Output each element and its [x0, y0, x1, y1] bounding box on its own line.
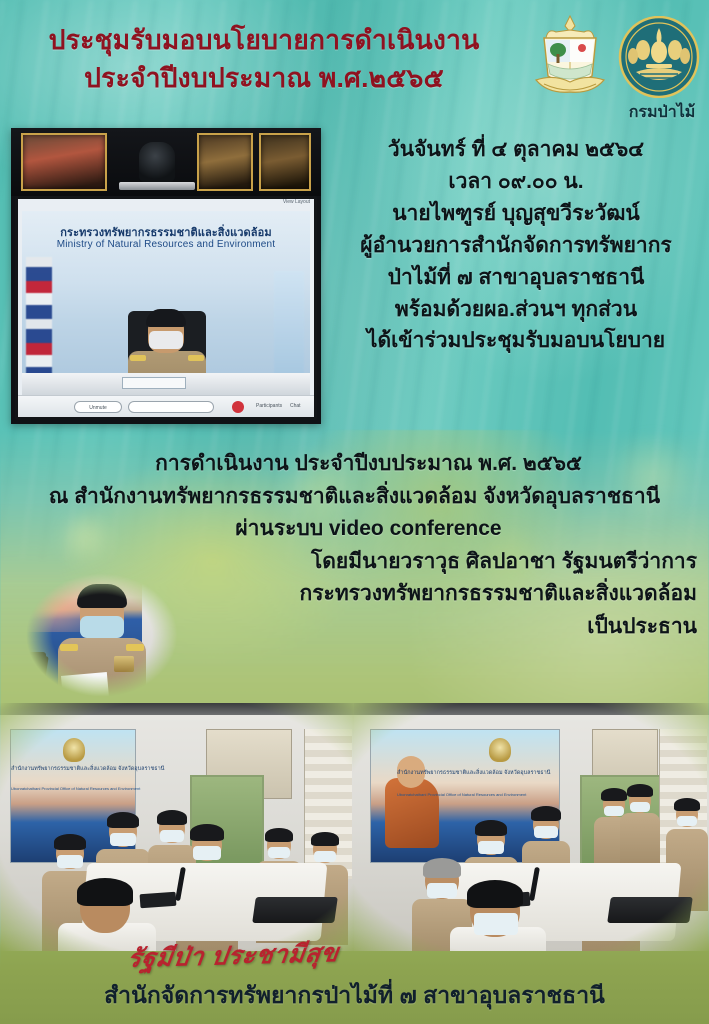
organization-name: สำนักจัดการทรัพยากรป่าไม้ที่ ๗ สาขาอุบลร…	[0, 978, 709, 1014]
ministry-of-natural-resources-and-environment-crest-icon	[530, 14, 610, 110]
portrait-wall	[142, 556, 196, 714]
face-mask	[630, 802, 650, 812]
hair	[311, 832, 339, 846]
video-conference-screenshot-photo: View Layout Everyone video size กระทรวงท…	[11, 128, 321, 424]
speaker-nameplate	[122, 377, 186, 389]
face-mask	[80, 616, 124, 638]
shared-slide: กระทรวงทรัพยากรธรรมชาติและสิ่งแวดล้อม Mi…	[22, 211, 310, 397]
chat-button[interactable]: Chat	[290, 403, 301, 409]
video-conference-topbar: View Layout	[200, 199, 310, 210]
monk-robe	[385, 778, 439, 848]
event-details-column: วันจันทร์ ที่ ๔ ตุลาคม ๒๕๖๔ เวลา ๐๙.๐๐ น…	[330, 134, 702, 357]
meeting-room-photo-left: สำนักงานทรัพยากรธรรมชาติและสิ่งแวดล้อม จ…	[0, 703, 354, 951]
hair	[157, 810, 187, 825]
poster-header: ประชุมรับมอบนโยบายการดำเนินงาน ประจำปีงบ…	[0, 0, 709, 130]
detail-line-action: ได้เข้าร่วมประชุมรับมอบนโยบาย	[330, 325, 702, 357]
face-mask	[677, 816, 697, 826]
poster-canvas: ประชุมรับมอบนโยบายการดำเนินงาน ประจำปีงบ…	[0, 0, 709, 1024]
hair	[54, 834, 86, 850]
meeting-room-photo-right: สำนักงานทรัพยากรธรรมชาติและสิ่งแวดล้อม จ…	[354, 703, 709, 951]
face-mask	[193, 846, 221, 860]
hair	[674, 798, 700, 811]
department-label: กรมป่าไม้	[616, 100, 708, 125]
hair	[77, 584, 127, 608]
body-line-channel: ผ่านระบบ video conference	[0, 513, 709, 546]
poster-footer: รัฐมีป่า ประชามีสุข สำนักจัดการทรัพยากรป…	[0, 934, 709, 1024]
face-mask	[478, 841, 504, 854]
ceiling	[354, 703, 709, 715]
banner-text-english: Ubonratchathani Provincial Office of Nat…	[397, 792, 526, 797]
royal-forest-department-seal-icon	[618, 16, 700, 98]
epaulette-right	[188, 355, 204, 361]
banner-text-english: Ubonratchathani Provincial Office of Nat…	[11, 786, 135, 791]
garuda-crest-icon	[63, 738, 85, 762]
face-mask	[149, 331, 183, 349]
title-line-2: ประจำปีงบประมาณ พ.ศ.๒๕๖๕	[14, 60, 514, 98]
record-button[interactable]	[232, 401, 244, 413]
uniform-badge	[114, 656, 134, 672]
hair	[627, 784, 653, 797]
title-line-1: ประชุมรับมอบนโยบายการดำเนินงาน	[14, 22, 514, 60]
conference-camera-icon	[139, 142, 175, 182]
slogan-text: รัฐมีป่า ประชามีสุข	[125, 933, 341, 979]
hair	[467, 880, 523, 908]
projection-screen: View Layout Everyone video size กระทรวงท…	[15, 196, 317, 420]
hair	[77, 878, 133, 906]
epaulette-left	[130, 355, 146, 361]
banner-text-thai: สำนักงานทรัพยากรธรรมชาติและสิ่งแวดล้อม จ…	[397, 770, 550, 777]
body-line-venue: ณ สำนักงานทรัพยากรธรรมชาติและสิ่งแวดล้อม…	[0, 481, 709, 514]
epaulette-right	[126, 644, 144, 651]
toolbar-search-field[interactable]	[128, 401, 214, 413]
detail-line-position1: ผู้อำนวยการสำนักจัดการทรัพยากร	[330, 230, 702, 262]
detail-line-date: วันจันทร์ ที่ ๔ ตุลาคม ๒๕๖๔	[330, 134, 702, 166]
hair	[146, 309, 186, 327]
documents	[61, 672, 109, 702]
director-portrait-photo	[0, 556, 196, 714]
royal-portrait-3	[259, 133, 311, 191]
room-interior: สำนักงานทรัพยากรธรรมชาติและสิ่งแวดล้อม จ…	[0, 715, 354, 951]
poster-title: ประชุมรับมอบนโยบายการดำเนินงาน ประจำปีงบ…	[14, 22, 514, 97]
royal-portrait-1	[21, 133, 107, 191]
slide-heading-english: Ministry of Natural Resources and Enviro…	[22, 239, 310, 250]
camera-stand	[119, 182, 195, 190]
attendee	[620, 787, 660, 871]
detail-line-time: เวลา ๐๙.๐๐ น.	[330, 166, 702, 198]
detail-line-position2: ป่าไม้ที่ ๗ สาขาอุบลราชธานี	[330, 262, 702, 294]
keyboard	[252, 897, 338, 923]
hair	[265, 828, 293, 842]
room-interior: สำนักงานทรัพยากรธรรมชาติและสิ่งแวดล้อม จ…	[354, 715, 709, 951]
detail-line-attendees: พร้อมด้วยผอ.ส่วนฯ ทุกส่วน	[330, 294, 702, 326]
epaulette-left	[60, 644, 78, 651]
ceiling	[0, 703, 354, 715]
participants-button[interactable]: Participants	[256, 403, 282, 409]
hair	[475, 820, 507, 836]
royal-portrait-2	[197, 133, 253, 191]
garuda-crest-icon	[489, 738, 511, 762]
monk-portrait	[379, 748, 441, 860]
face-mask	[57, 855, 83, 868]
face-mask	[110, 833, 136, 846]
hair	[531, 806, 561, 821]
face-mask	[268, 847, 290, 858]
keyboard	[607, 897, 693, 923]
emblem-group: กรมป่าไม้	[524, 8, 704, 130]
detail-line-name: นายไพฑูรย์ บุญสุขวีระวัฒน์	[330, 198, 702, 230]
unmute-button[interactable]: Unmute	[74, 401, 122, 413]
hair	[423, 858, 461, 878]
banner-text-thai: สำนักงานทรัพยากรธรรมชาติและสิ่งแวดล้อม จ…	[11, 766, 135, 773]
face-mask	[314, 851, 336, 862]
video-conference-toolbar[interactable]: Unmute Participants Chat	[18, 395, 314, 417]
meeting-room-wall	[11, 128, 321, 196]
hair	[190, 824, 224, 841]
hair	[107, 812, 139, 828]
face-mask	[534, 826, 558, 838]
body-line-fiscal-year: การดำเนินงาน ประจำปีงบประมาณ พ.ศ. ๒๕๖๕	[0, 448, 709, 481]
face-mask	[474, 913, 518, 935]
